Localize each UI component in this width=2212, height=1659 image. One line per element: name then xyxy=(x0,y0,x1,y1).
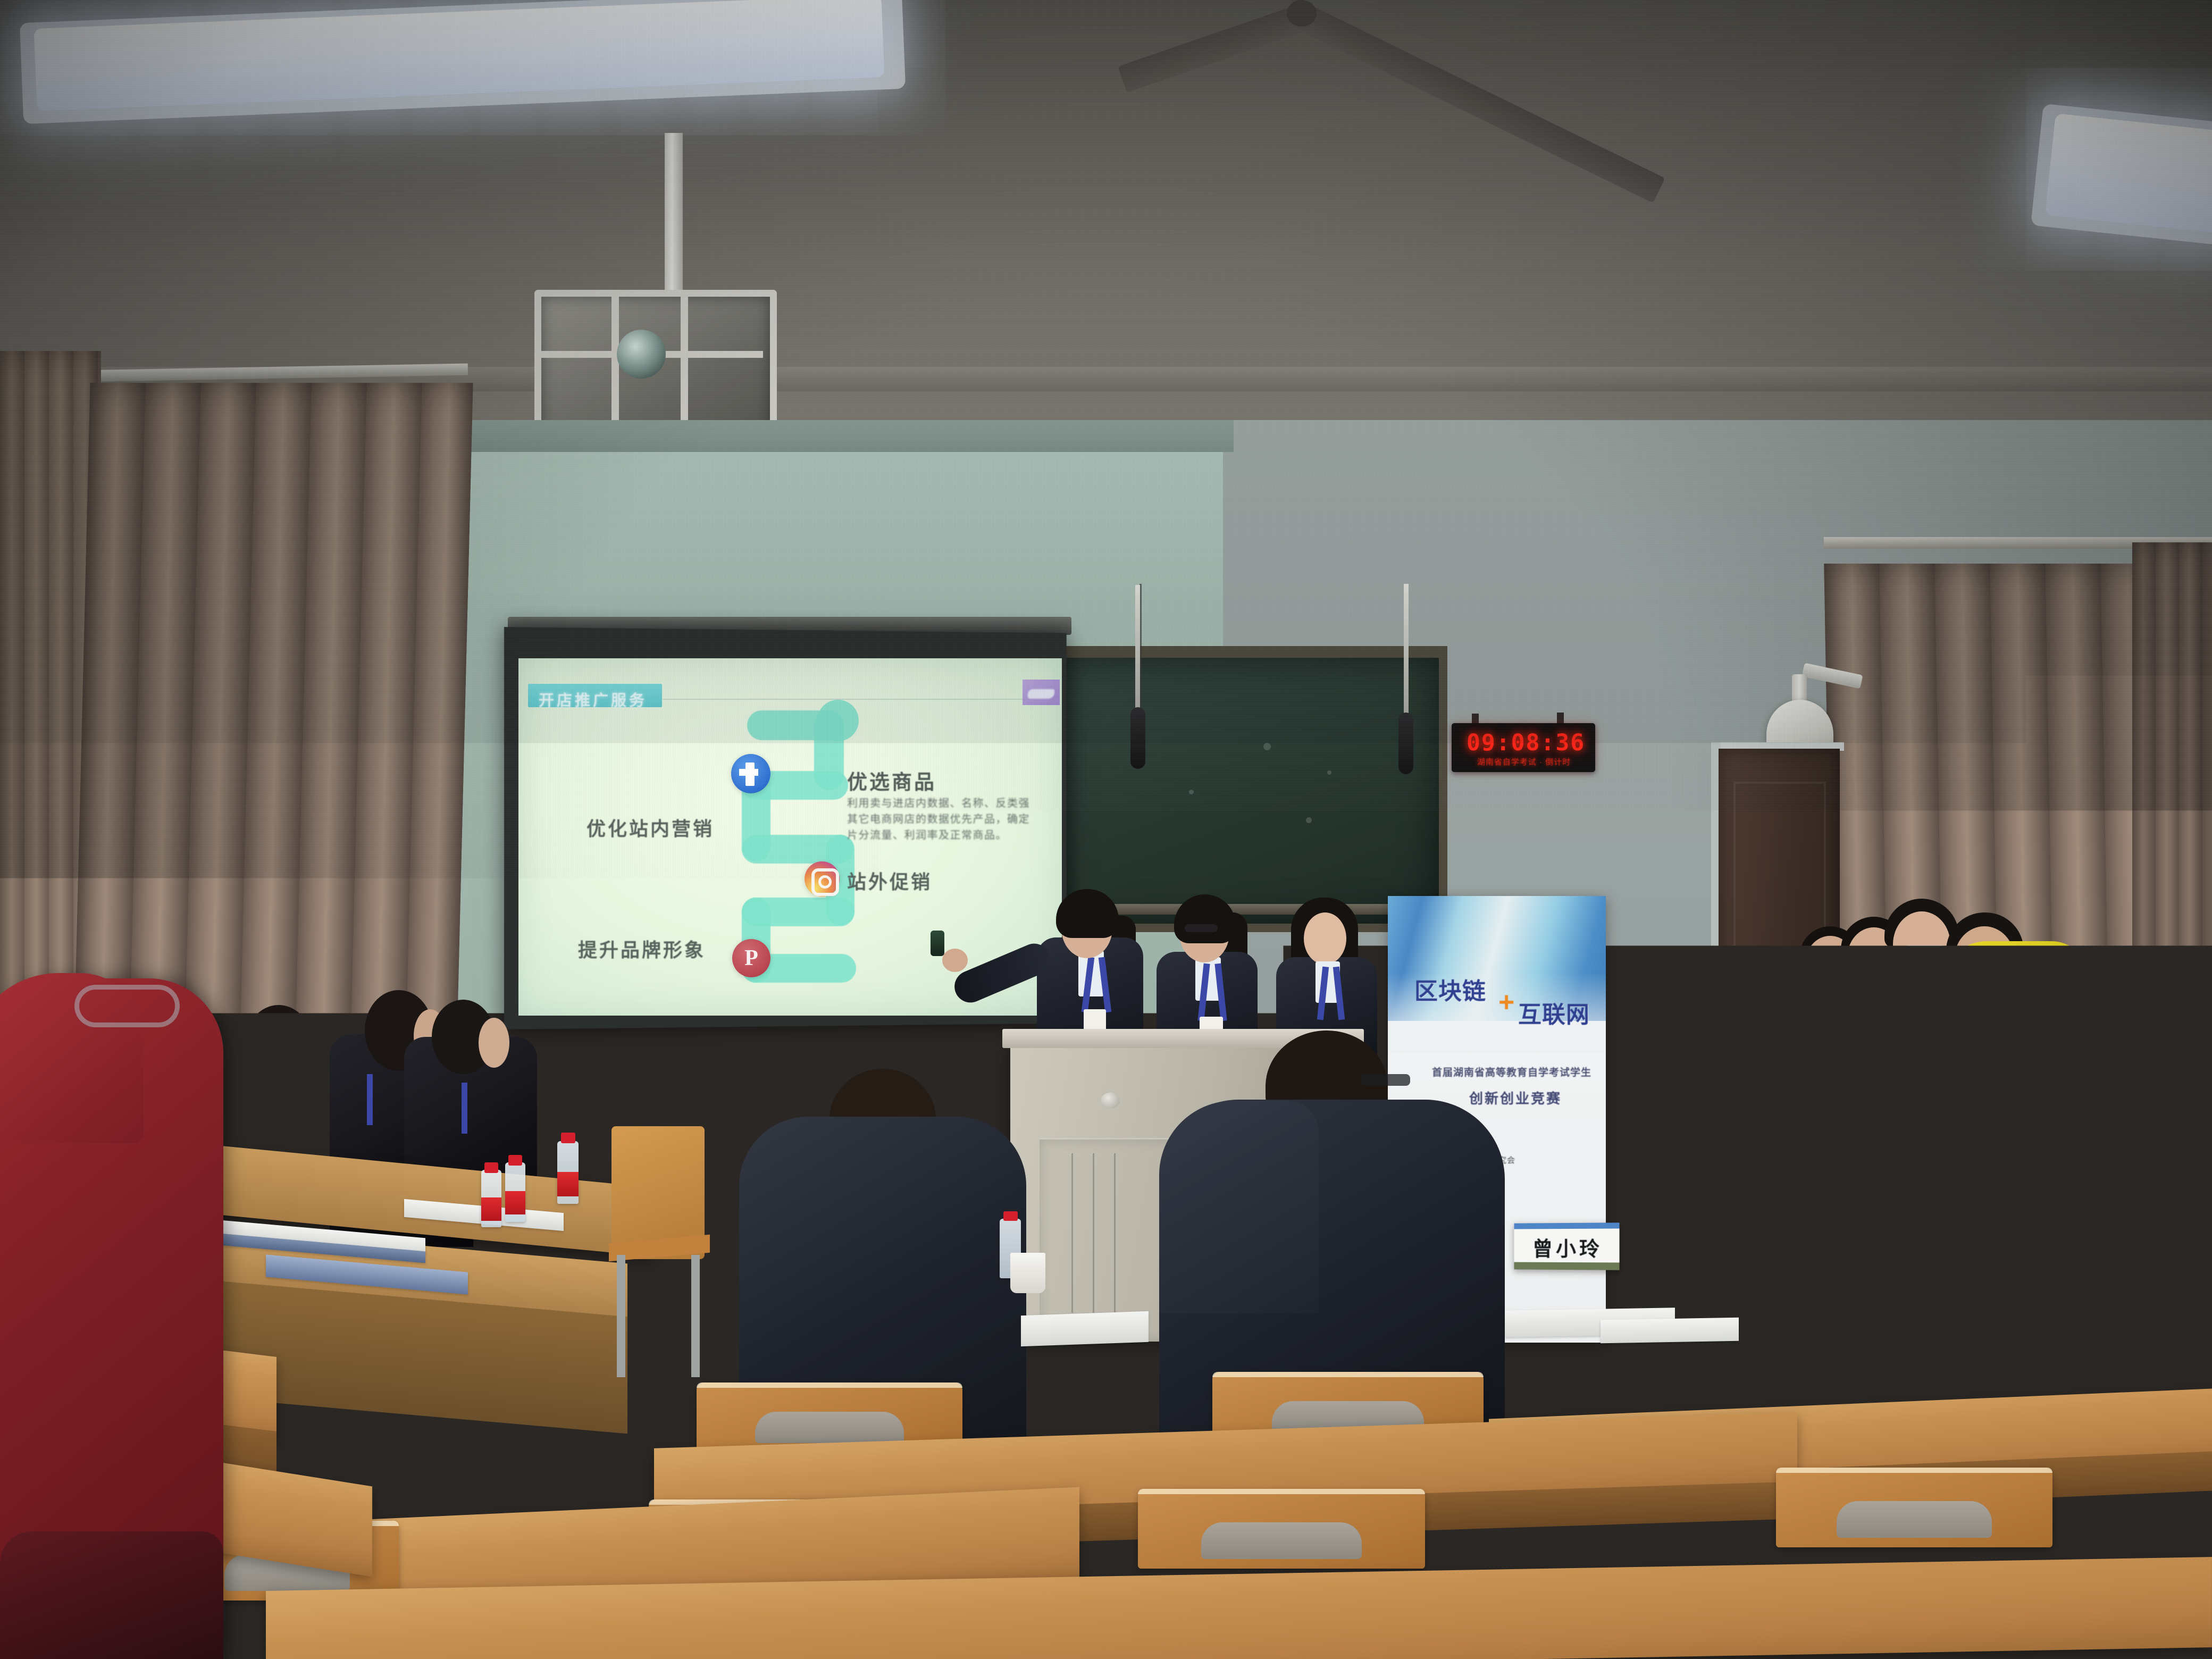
slide-label-optimize-onsite: 优化站内营销 xyxy=(586,814,714,841)
judge-lanyard xyxy=(367,1074,373,1125)
presentation-clicker[interactable] xyxy=(931,931,944,956)
chair-back[interactable] xyxy=(1138,1489,1425,1569)
audience-right-hood xyxy=(1159,1101,1319,1313)
audience-right-glasses-icon xyxy=(1361,1074,1410,1086)
hanging-mic-rod-left xyxy=(1135,585,1140,713)
presenter-1-hand xyxy=(942,949,968,972)
slide-logo-mark xyxy=(1028,689,1054,699)
slide-title: 开店推广服务 xyxy=(539,688,661,710)
eyeglasses-icon xyxy=(74,985,180,1027)
green-chalkboard xyxy=(1048,646,1447,932)
slide-label-offsite-promo: 站外促销 xyxy=(847,867,932,894)
hanging-microphone-left xyxy=(1130,707,1145,769)
presentation-slide: 开店推广服务 P 优化站内营销 提升品牌形象 站外促销 优选商品 利用卖与进店内… xyxy=(518,658,1062,1016)
water-bottle-label xyxy=(1658,1249,1680,1274)
banner-subtitle-line2: 创新创业竞赛 xyxy=(1457,1088,1574,1108)
chair-leg xyxy=(617,1255,625,1377)
paper-sheet xyxy=(1601,1318,1739,1344)
yellow-hood xyxy=(1940,941,2089,1037)
instagram-icon-lens xyxy=(818,875,832,889)
water-bottle-cap xyxy=(561,1133,575,1143)
slide-body-text: 利用卖与进店内数据、名称、反类强其它电商网店的数据优先产品，确定片分流量、利润率… xyxy=(847,795,1034,843)
pinterest-icon-glyph: P xyxy=(744,946,759,970)
paper-sheet xyxy=(1021,1311,1149,1346)
classroom-scene: 开店推广服务 P 优化站内营销 提升品牌形象 站外促销 优选商品 利用卖与进店内… xyxy=(0,0,2212,1659)
presenter-2-glasses-icon xyxy=(1185,924,1218,932)
judge-1-face xyxy=(298,1026,329,1077)
water-bottle-cap xyxy=(1003,1211,1018,1221)
projector-mount-rod xyxy=(665,133,683,298)
door-handle[interactable] xyxy=(1723,1010,1731,1041)
water-bottle-cap xyxy=(1662,1208,1677,1219)
projector-lens-icon xyxy=(617,330,666,379)
paper-cup[interactable] xyxy=(1010,1253,1045,1293)
presenter-3-face xyxy=(1304,912,1346,965)
foreground-silhouette xyxy=(0,1531,223,1659)
slide-ribbon-cap xyxy=(817,700,859,741)
slide-heading-featured-products: 优选商品 xyxy=(847,766,936,795)
paper-cup[interactable] xyxy=(1685,1263,1719,1303)
banner-headline-internet: 互联网 xyxy=(1518,995,1614,1029)
water-bottle-label xyxy=(557,1172,579,1196)
clock-subtitle: 湖南省自学考试 · 倒计时 xyxy=(1463,756,1585,767)
water-bottle-label xyxy=(481,1197,501,1221)
water-bottle-cap xyxy=(484,1162,498,1173)
curtain-far-right[interactable] xyxy=(2132,542,2212,1170)
facebook-icon-bar xyxy=(739,769,758,776)
slide-label-brand-image: 提升品牌形象 xyxy=(578,935,706,962)
chair-back[interactable] xyxy=(1776,1468,2052,1547)
ceiling-fan-icon xyxy=(1287,0,1317,27)
banner-plus-sign: + xyxy=(1498,986,1514,1018)
judge-lanyard xyxy=(462,1083,467,1134)
brown-bag xyxy=(2127,1186,2212,1281)
banner-subtitle-line1: 首届湖南省高等教育自学考试学生 xyxy=(1424,1065,1599,1079)
judge-nameplate-text: 曾小玲 xyxy=(1525,1233,1610,1262)
chair-leg xyxy=(691,1255,700,1377)
podium-knob[interactable] xyxy=(1101,1093,1120,1109)
student-necktie xyxy=(1867,987,1878,1030)
judge-3-face xyxy=(479,1018,509,1068)
water-bottle-cap xyxy=(508,1155,522,1166)
face-mask-icon xyxy=(1903,945,1947,978)
fluorescent-light-2[interactable] xyxy=(2045,113,2212,236)
water-bottle-label xyxy=(505,1191,525,1214)
hanging-microphone-right xyxy=(1398,713,1413,774)
slide-divider xyxy=(663,699,1035,700)
hanging-mic-rod-right xyxy=(1404,584,1409,718)
clock-time-display: 09:08:36 xyxy=(1467,730,1581,756)
